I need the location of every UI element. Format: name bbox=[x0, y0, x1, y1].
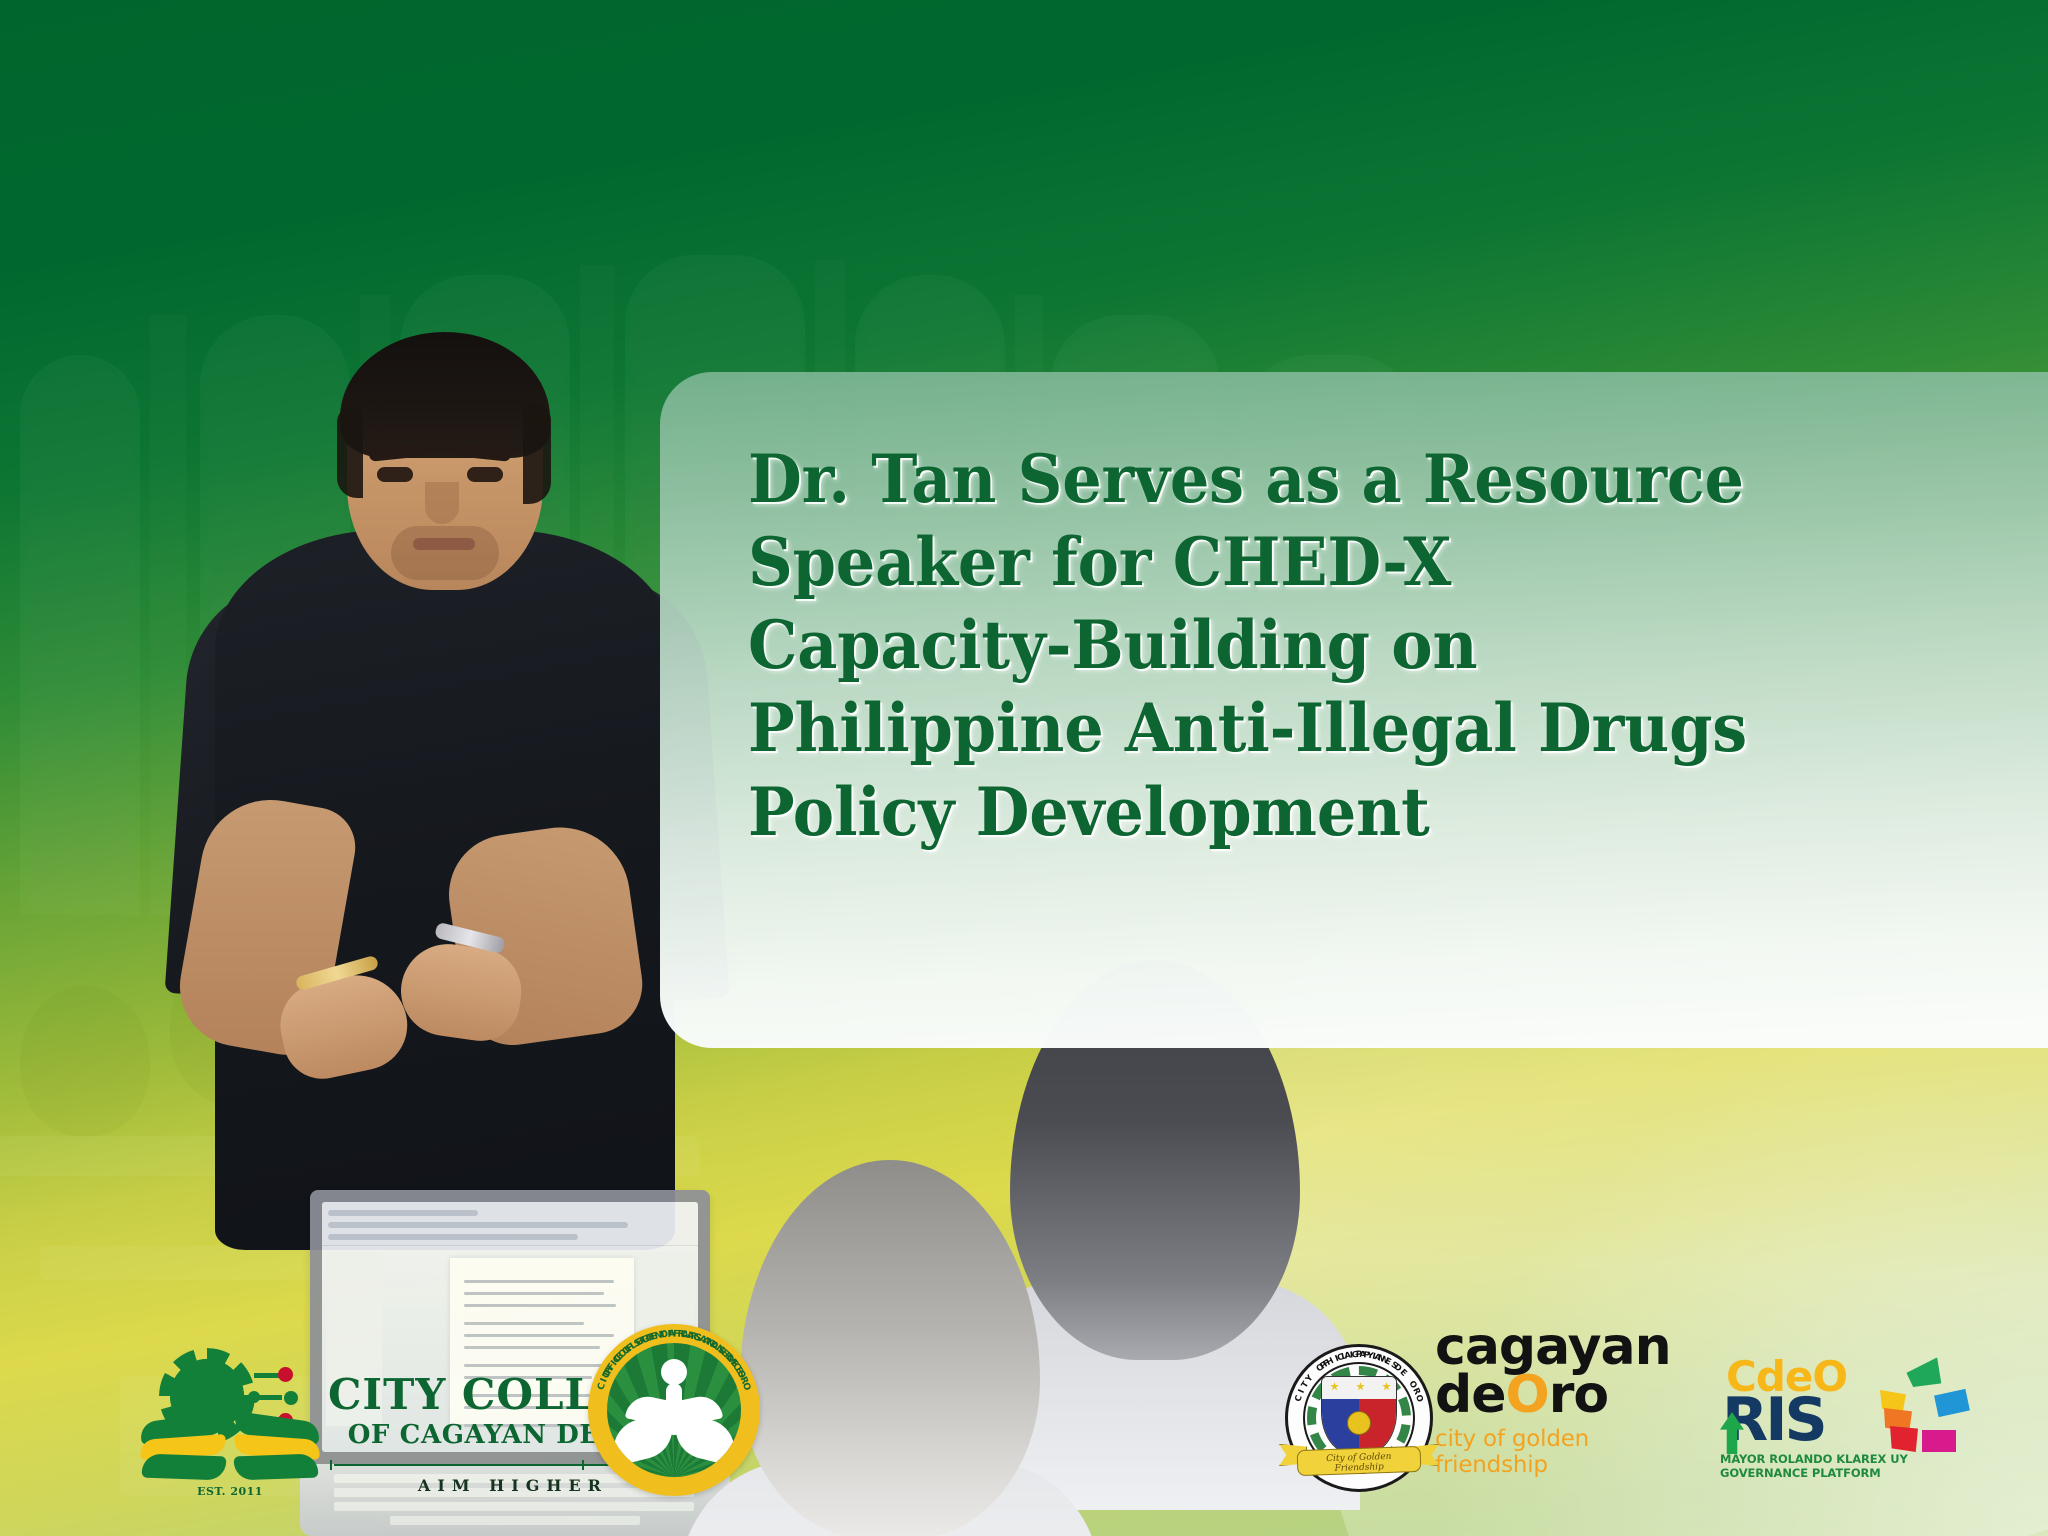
logo-osas-seal: CITY COLLEGE OF CAGAYAN DE OROOFFICE OF … bbox=[588, 1324, 760, 1496]
logo-cagayan-de-oro-wordmark: cagayan deOro city of golden friendship bbox=[1435, 1324, 1665, 1478]
seal-ribbon: City of Golden Friendship bbox=[1279, 1442, 1439, 1484]
page-title: Dr. Tan Serves as a Resource Speaker for… bbox=[748, 438, 1747, 854]
logo-cdeo-rise: CdeO RIS MAYOR ROLANDO KLAREX UY GOVERNA… bbox=[1712, 1356, 1962, 1476]
colored-e-icon bbox=[1878, 1368, 1962, 1454]
open-book-icon bbox=[140, 1417, 320, 1487]
poster-canvas: Dr. Tan Serves as a Resource Speaker for… bbox=[0, 0, 2048, 1536]
speaker-photo bbox=[185, 330, 705, 1250]
seal-ribbon-text: City of Golden Friendship bbox=[1303, 1451, 1416, 1475]
osas-emblem-icon bbox=[607, 1343, 741, 1477]
wordmark-de: de bbox=[1435, 1365, 1506, 1425]
wordmark-o-accent: O bbox=[1506, 1365, 1549, 1425]
rise-caption: MAYOR ROLANDO KLAREX UY GOVERNANCE PLATF… bbox=[1720, 1452, 1962, 1480]
logo-cdo-city-seal: CITY OF CAGAYAN DE ORO PHILIPPINES City … bbox=[1285, 1344, 1433, 1492]
gear-circuit-book-icon: EST. 2011 bbox=[140, 1359, 320, 1504]
title-card: Dr. Tan Serves as a Resource Speaker for… bbox=[660, 372, 2048, 1048]
wordmark-line-2: deOro bbox=[1435, 1372, 1665, 1420]
logo-row: EST. 2011 CITY COLLEGE OF CAGAYAN DE ORO… bbox=[0, 1334, 2048, 1514]
established-label: EST. 2011 bbox=[140, 1485, 320, 1498]
wordmark-ro: ro bbox=[1549, 1365, 1608, 1425]
wordmark-tagline: city of golden friendship bbox=[1435, 1426, 1665, 1478]
